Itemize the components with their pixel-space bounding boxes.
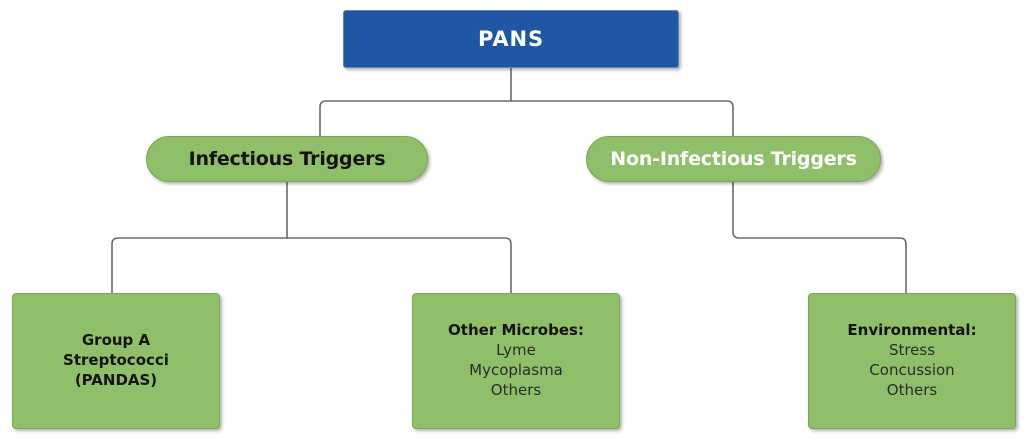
leaf-title-line: Other Microbes:	[448, 321, 584, 341]
connector-root-to-noninfectious	[511, 101, 733, 136]
leaf-title-line: Environmental:	[847, 321, 976, 341]
leaf-title-line: Streptococci	[63, 351, 169, 371]
node-group-a-streptococci[interactable]: Group A Streptococci (PANDAS)	[12, 293, 220, 429]
connector-infectious-to-strep	[112, 238, 287, 293]
connector-root-to-infectious	[320, 101, 511, 136]
leaf-item: Lyme	[496, 341, 536, 361]
leaf-item: Others	[887, 381, 937, 401]
leaf-item: Concussion	[869, 361, 954, 381]
node-pans[interactable]: PANS	[343, 10, 679, 68]
connector-infectious-to-other	[287, 238, 511, 293]
leaf-item: Stress	[889, 341, 935, 361]
node-non-infectious-triggers[interactable]: Non-Infectious Triggers	[586, 136, 881, 182]
node-infectious-triggers-label: Infectious Triggers	[189, 148, 386, 170]
leaf-item: Mycoplasma	[469, 361, 563, 381]
node-non-infectious-triggers-label: Non-Infectious Triggers	[610, 148, 856, 170]
leaf-title-line: (PANDAS)	[75, 371, 157, 391]
leaf-title-line: Group A	[82, 331, 150, 351]
node-infectious-triggers[interactable]: Infectious Triggers	[146, 136, 428, 182]
diagram-canvas: PANS Infectious Triggers Non-Infectious …	[0, 0, 1024, 448]
leaf-item: Others	[491, 381, 541, 401]
node-other-microbes[interactable]: Other Microbes: Lyme Mycoplasma Others	[412, 293, 620, 429]
connector-noninfectious-to-environmental	[733, 182, 906, 293]
node-environmental[interactable]: Environmental: Stress Concussion Others	[808, 293, 1016, 429]
node-pans-label: PANS	[478, 27, 544, 51]
